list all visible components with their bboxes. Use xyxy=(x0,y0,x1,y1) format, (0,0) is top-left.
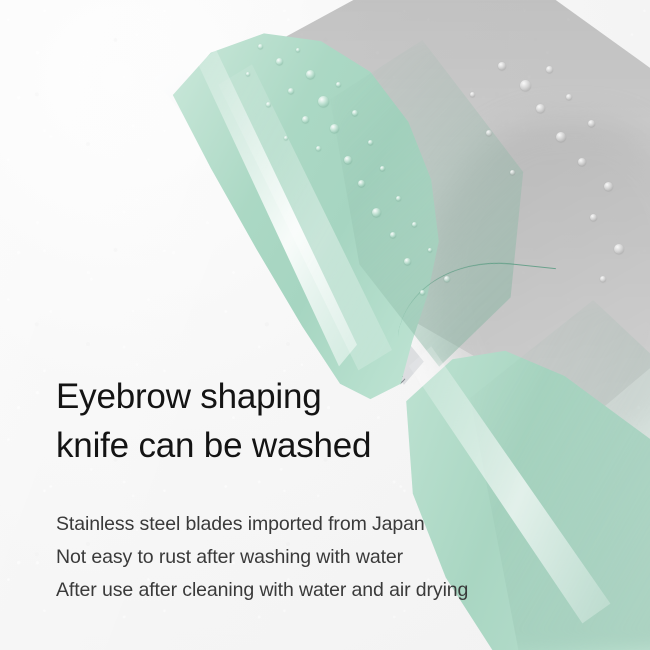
product-image-canvas: Eyebrow shaping knife can be washed Stai… xyxy=(0,0,650,650)
feature-item: After use after cleaning with water and … xyxy=(56,574,596,607)
feature-item: Stainless steel blades imported from Jap… xyxy=(56,508,596,541)
marketing-copy-block: Eyebrow shaping knife can be washed Stai… xyxy=(56,372,596,607)
headline: Eyebrow shaping knife can be washed xyxy=(56,372,596,470)
feature-list: Stainless steel blades imported from Jap… xyxy=(56,508,596,607)
feature-item: Not easy to rust after washing with wate… xyxy=(56,541,596,574)
